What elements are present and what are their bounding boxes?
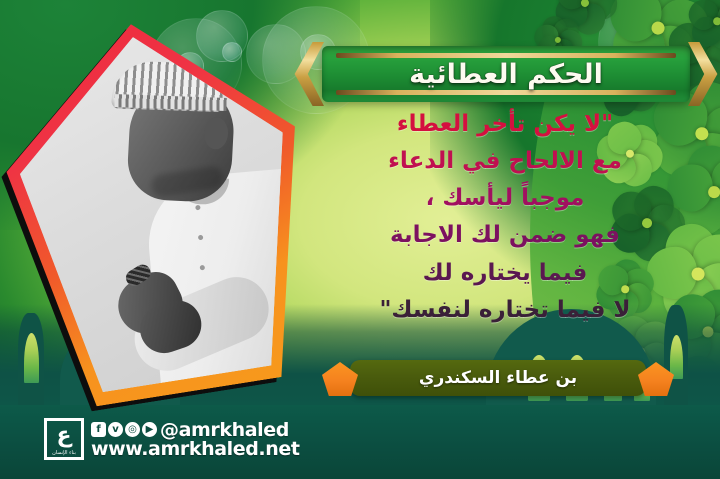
instagram-icon[interactable]: ◎ [125, 422, 140, 437]
youtube-icon[interactable]: ▶ [142, 422, 157, 437]
photo-frame [14, 22, 306, 394]
quote-line-4: فهو ضمن لك الاجابة [300, 223, 710, 247]
poster-canvas: الحكم العطائية "لا يكن تأخر العطاءمع الا… [0, 0, 720, 479]
quote-line-2: مع الالحاح في الدعاء [300, 149, 710, 173]
brand-footer: ع بناء الإنسان fᴠ◎▶ @amrkhaled www.amrkh… [44, 418, 300, 460]
attribution-author: بن عطاء السكندري [322, 358, 674, 398]
website-url[interactable]: www.amrkhaled.net [91, 438, 300, 460]
banner-ornament-right-icon [688, 42, 718, 106]
logo-glyph: ع [56, 425, 71, 447]
banner-ornament-left-icon [294, 42, 324, 106]
quote-line-1: "لا يكن تأخر العطاء [300, 112, 710, 136]
poster-title: الحكم العطائية [322, 46, 690, 102]
logo-subtitle: بناء الإنسان [47, 450, 81, 456]
quote-line-6: لا فيما تختاره لنفسك" [300, 298, 710, 322]
brand-text-block: fᴠ◎▶ @amrkhaled www.amrkhaled.net [91, 419, 300, 460]
quote-line-3: موجباً ليأسك ، [300, 186, 710, 210]
amr-khaled-logo: ع بناء الإنسان [44, 418, 84, 460]
attribution-banner: بن عطاء السكندري [322, 358, 674, 398]
facebook-icon[interactable]: f [91, 422, 106, 437]
quote-line-5: فيما يختاره لك [300, 261, 710, 285]
photo-frame-inner [2, 16, 319, 399]
title-banner-body: الحكم العطائية [322, 46, 690, 102]
praying-man-photo [2, 16, 319, 399]
twitter-icon[interactable]: ᴠ [108, 422, 123, 437]
quote-text: "لا يكن تأخر العطاءمع الالحاح في الدعاءم… [300, 112, 710, 335]
title-banner: الحكم العطائية [296, 46, 716, 102]
